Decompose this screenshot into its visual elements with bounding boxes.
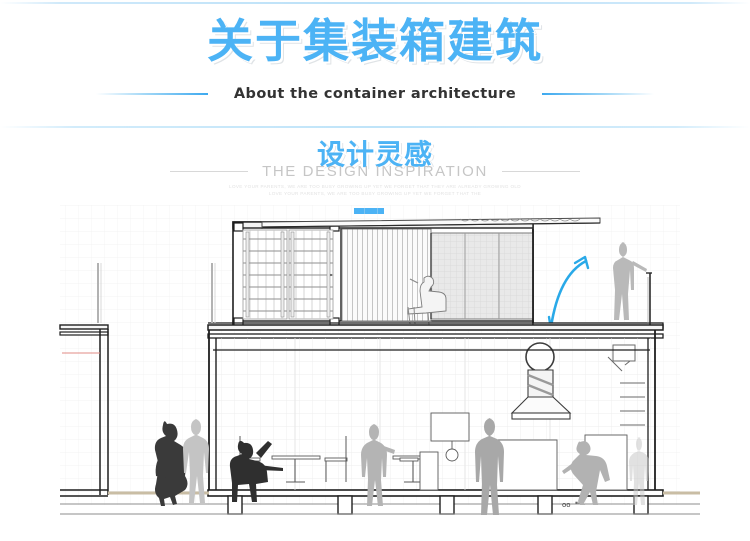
page-title: 关于集装箱建筑 xyxy=(0,17,750,65)
inspiration-fine-line-2: LOVE YOUR PARENTS, WE ARE TOO BUSY GROWI… xyxy=(0,191,750,196)
inspiration-title-row: THE DESIGN INSPIRATION xyxy=(0,163,750,180)
inspiration-rule-right xyxy=(502,171,580,172)
header-top-rule xyxy=(0,2,750,4)
container-door-right xyxy=(289,230,333,319)
inspiration-title-en: THE DESIGN INSPIRATION xyxy=(262,163,488,180)
container-door-left xyxy=(243,230,287,319)
svg-text:oo: oo xyxy=(562,501,571,509)
header-bottom-rule xyxy=(0,126,750,128)
subtitle-row: About the container architecture xyxy=(0,86,750,102)
subtitle-rule-left xyxy=(96,93,208,95)
subtitle-rule-right xyxy=(542,93,654,95)
inspiration-fine-line-1: LOVE YOUR PARENTS, WE ARE TOO BUSY GROWI… xyxy=(0,184,750,189)
architecture-section-illustration: oo ▪▪ xyxy=(0,205,750,541)
inspiration-rule-left xyxy=(170,171,248,172)
page-root: 关于集装箱建筑 About the container architecture… xyxy=(0,0,750,541)
subtitle-text: About the container architecture xyxy=(234,86,516,102)
